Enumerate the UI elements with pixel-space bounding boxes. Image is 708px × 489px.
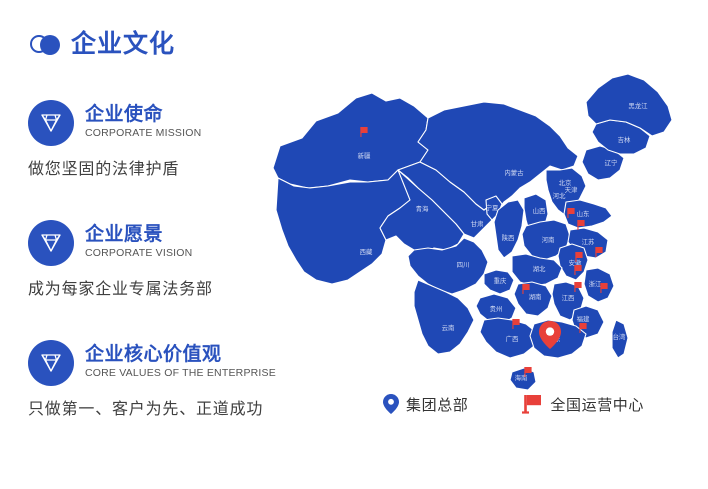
province-label: 广西 (506, 334, 519, 343)
culture-panel: 企业文化 企业使命 CORPORATE MISSION (0, 0, 300, 489)
diamond-icon (28, 220, 74, 266)
province-label: 浙江 (589, 279, 602, 288)
diamond-icon (28, 340, 74, 386)
value-subtitle: CORPORATE VISION (85, 246, 192, 262)
province-yunnan (414, 280, 474, 354)
province-label: 内蒙古 (504, 168, 524, 177)
province-label: 北京 (559, 178, 572, 187)
province-label: 山西 (533, 206, 546, 215)
province-label: 四川 (457, 261, 470, 269)
province-label: 云南 (442, 323, 455, 332)
province-label: 海南 (515, 373, 528, 382)
value-title: 企业使命 (85, 104, 201, 125)
diamond-icon (28, 100, 74, 146)
province-label: 河南 (542, 235, 555, 244)
province-label: 台湾 (613, 332, 626, 341)
value-title: 企业愿景 (85, 224, 192, 245)
map-legend: 集团总部 全国运营中心 (382, 392, 644, 416)
province-label: 山东 (577, 209, 590, 218)
legend-label: 全国运营中心 (550, 394, 644, 415)
province-label: 天津 (565, 186, 578, 194)
province-label: 青海 (416, 204, 429, 213)
province-label: 福建 (577, 314, 590, 323)
province-label: 江苏 (582, 237, 595, 246)
province-label: 湖南 (529, 292, 542, 301)
legend-item-headquarters: 集团总部 (382, 393, 468, 415)
province-label: 甘肃 (471, 219, 484, 228)
legend-label: 集团总部 (406, 394, 468, 415)
province-label: 辽宁 (605, 158, 618, 167)
double-circle-icon (30, 34, 64, 56)
value-title: 企业核心价值观 (85, 344, 276, 365)
map-pin-icon (382, 393, 400, 415)
province-label: 宁夏 (486, 203, 499, 212)
section-header: 企业文化 (30, 32, 175, 57)
province-label: 西藏 (360, 247, 373, 256)
province-label: 重庆 (494, 276, 507, 285)
province-label: 陕西 (502, 233, 515, 242)
legend-item-operation-center: 全国运营中心 (520, 392, 644, 416)
province-label: 吉林 (618, 135, 631, 144)
page-title: 企业文化 (71, 32, 175, 57)
province-label: 新疆 (358, 151, 371, 160)
province-label: 贵州 (490, 304, 503, 313)
value-subtitle: CORPORATE MISSION (85, 126, 201, 142)
province-label: 湖北 (533, 264, 546, 273)
flag-icon (520, 392, 544, 416)
province-label: 黑龙江 (628, 101, 648, 110)
value-subtitle: CORE VALUES OF THE ENTERPRISE (85, 366, 276, 382)
china-map: 新疆西藏青海甘肃内蒙古宁夏陕西四川重庆云南贵州广西湖南湖北河南山西河北北京天津山… (268, 58, 708, 403)
province-label: 江西 (562, 294, 575, 302)
